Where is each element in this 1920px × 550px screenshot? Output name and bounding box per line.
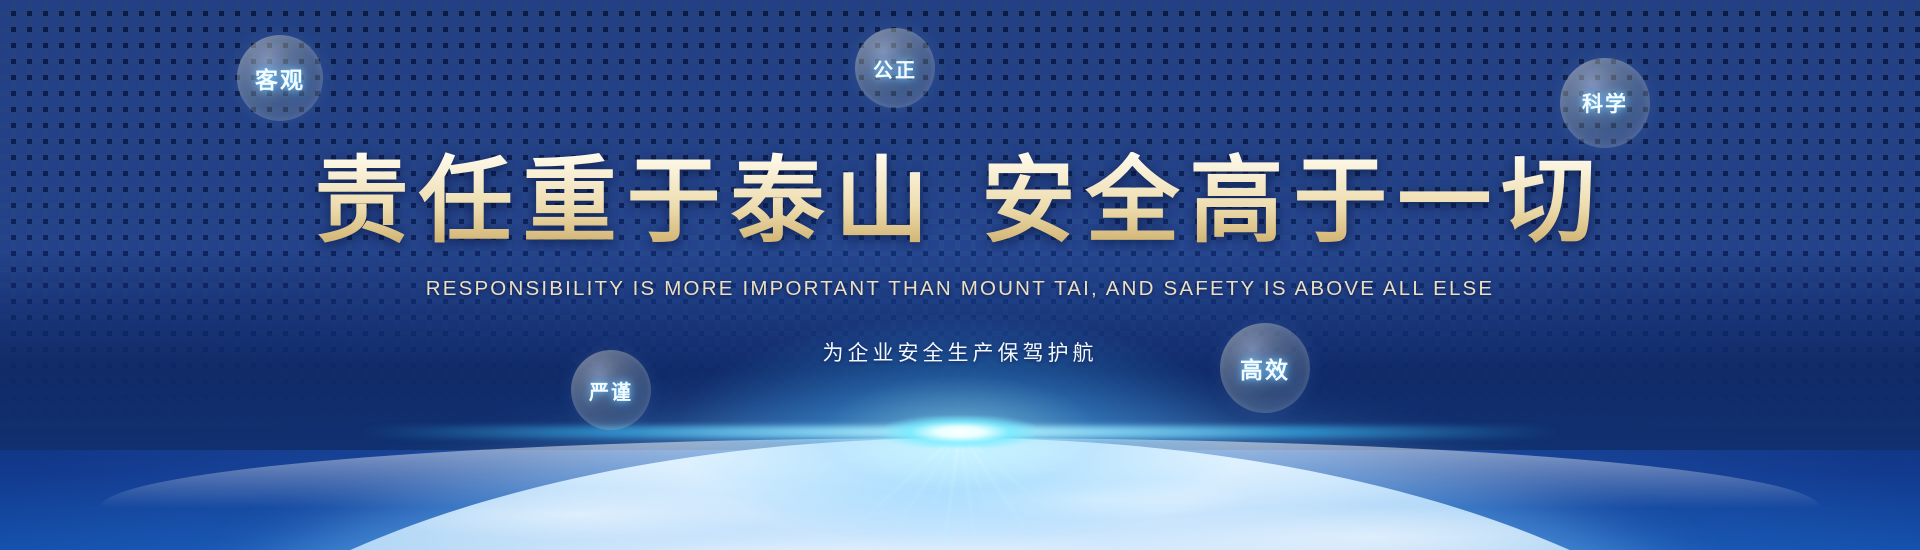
badge-gongzheng[interactable]: 公正 bbox=[855, 28, 935, 108]
subtitle-english: RESPONSIBILITY IS MORE IMPORTANT THAN MO… bbox=[0, 277, 1920, 301]
safety-banner: 客观 公正 科学 严谨 高效 责任重于泰山 安全高于一切 RESPONSIBIL… bbox=[0, 0, 1920, 550]
badge-kexue-label: 科学 bbox=[1582, 88, 1628, 118]
badge-gongzheng-label: 公正 bbox=[873, 54, 917, 83]
tagline-chinese: 为企业安全生产保驾护航 bbox=[0, 337, 1920, 367]
badge-keguan[interactable]: 客观 bbox=[237, 35, 323, 121]
lens-flare-core bbox=[885, 416, 1035, 448]
badge-keguan-label: 客观 bbox=[255, 61, 305, 95]
badge-yanjin-label: 严谨 bbox=[589, 376, 633, 405]
page-title: 责任重于泰山 安全高于一切 bbox=[0, 152, 1920, 252]
badge-kexue[interactable]: 科学 bbox=[1560, 58, 1650, 148]
